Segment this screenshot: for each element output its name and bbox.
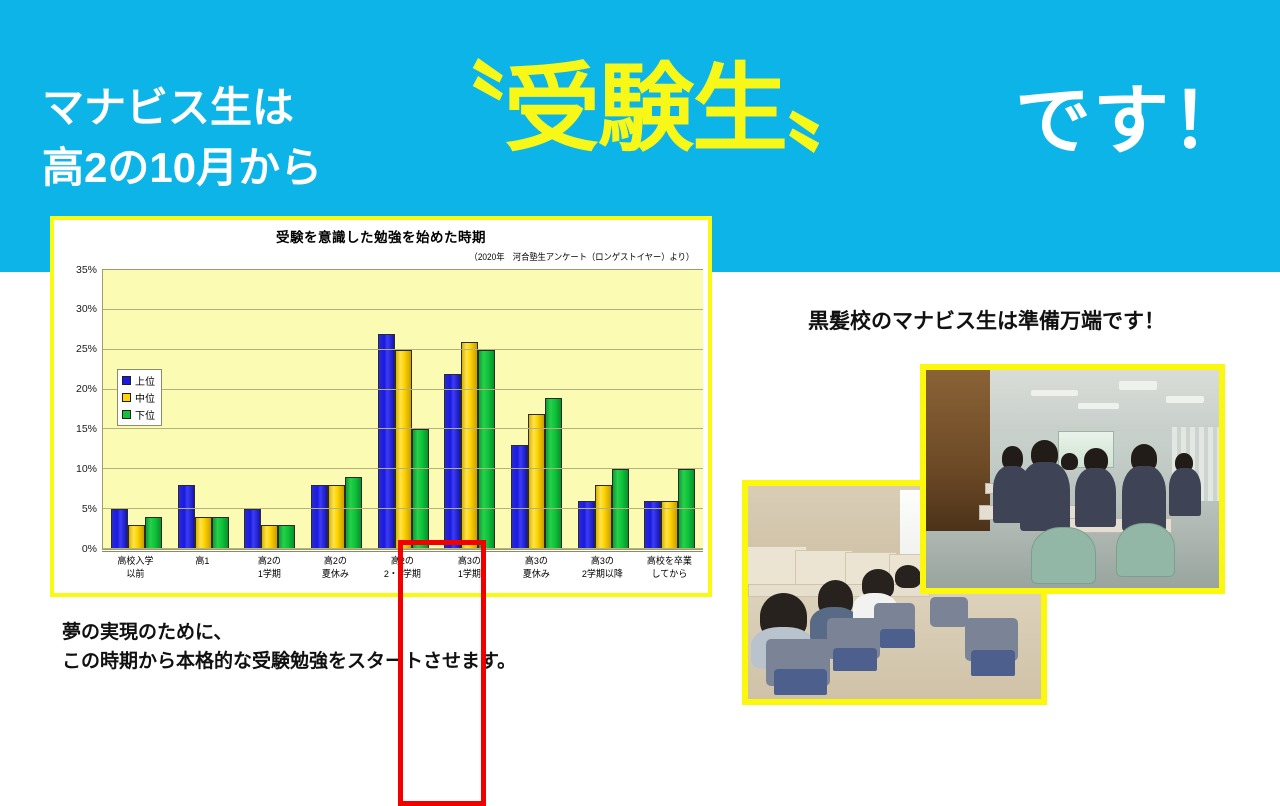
chart-bar: [311, 485, 328, 549]
lecture-room-image: [926, 370, 1219, 588]
headline-group: マナビス生は 高2の10月から: [42, 72, 322, 197]
chart-gridline: 5%: [103, 508, 703, 509]
office-chair: [971, 650, 1015, 676]
ceiling-light: [1031, 390, 1078, 397]
ceiling-light: [1119, 381, 1157, 390]
student-head: [895, 565, 921, 588]
legend-item-label: 中位: [135, 390, 155, 405]
chart-bar-group: [170, 270, 237, 549]
lecture-chair: [1031, 527, 1095, 584]
chart-bar: [128, 525, 145, 549]
chart-bar: [111, 509, 128, 549]
legend-item: 上位: [122, 373, 155, 388]
lecture-chair: [1116, 523, 1175, 578]
chart-bar: [444, 374, 461, 549]
y-axis-tick-label: 30%: [76, 303, 97, 315]
y-axis-tick-label: 25%: [76, 343, 97, 355]
chart-bar-group: [636, 270, 703, 549]
chart-gridline: 15%: [103, 428, 703, 429]
x-axis-tick-label: 高1: [170, 552, 233, 595]
x-axis-tick-label: 高3の 夏休み: [504, 552, 567, 595]
chart-bar: [412, 429, 429, 549]
chart-gridline: 30%: [103, 309, 703, 310]
x-axis-tick-label: 高2の 2・3学期: [371, 552, 434, 595]
student-body: [1122, 466, 1166, 531]
chart-legend: 上位中位下位: [117, 369, 162, 426]
chart-bar-group: [570, 270, 637, 549]
right-heading: 黒髪校のマナビス生は準備万端です！: [808, 305, 1165, 335]
chart-gridline: 10%: [103, 468, 703, 469]
y-axis-tick-label: 20%: [76, 383, 97, 395]
student-head: [1061, 453, 1079, 470]
chart-gridline: 35%: [103, 269, 703, 270]
lecture-room-photo: [920, 364, 1225, 594]
headline-emphasis-text: 〝受験生〟: [410, 62, 880, 158]
chart-bar: [395, 350, 412, 549]
chart-plot-area: 0%5%10%15%20%25%30%35%: [102, 269, 703, 550]
student-body: [1020, 462, 1070, 532]
x-axis-tick-label: 高3の 2学期以降: [571, 552, 634, 595]
office-chair: [880, 629, 915, 648]
chart-gridline: 25%: [103, 349, 703, 350]
chart-bar: [345, 477, 362, 549]
chart-gridline: 0%: [103, 548, 703, 549]
chart-gridline: 20%: [103, 389, 703, 390]
headline-white-text: マナビス生は 高2の10月から: [42, 72, 322, 197]
chart-bar: [244, 509, 261, 549]
slide: マナビス生は 高2の10月から 〝受験生〟 です！ 受験を意識した勉強を始めた時…: [0, 0, 1280, 720]
office-chair: [774, 669, 827, 695]
legend-item-label: 上位: [135, 373, 155, 388]
legend-item: 下位: [122, 407, 155, 422]
chart-bar: [212, 517, 229, 549]
chart-title: 受験を意識した勉強を始めた時期: [54, 226, 708, 246]
chart-bar: [478, 350, 495, 549]
chart-bar: [595, 485, 612, 549]
chart-bar-group: [436, 270, 503, 549]
legend-swatch-icon: [122, 393, 131, 402]
chart-caption: 夢の実現のために、 この時期から本格的な受験勉強をスタートさせます。: [62, 618, 516, 677]
chart-bar-group: [303, 270, 370, 549]
chart-subtitle: （2020年 河合塾生アンケート（ロンゲストイヤー）より）: [469, 250, 694, 263]
y-axis-tick-label: 0%: [82, 543, 97, 555]
x-axis-tick-label: 高2の 夏休み: [304, 552, 367, 595]
chart-bar: [145, 517, 162, 549]
chart-bar-group: [370, 270, 437, 549]
legend-swatch-icon: [122, 410, 131, 419]
chart-bar-group: [236, 270, 303, 549]
ceiling-light: [1078, 403, 1119, 410]
x-axis-tick-label: 高校を卒業 してから: [638, 552, 701, 595]
x-axis-tick-label: 高3の 1学期: [438, 552, 501, 595]
legend-item-label: 下位: [135, 407, 155, 422]
legend-item: 中位: [122, 390, 155, 405]
x-axis-tick-label: 高2の 1学期: [237, 552, 300, 595]
office-chair: [930, 597, 968, 627]
chart-bar: [378, 334, 395, 549]
student-body: [1169, 468, 1201, 516]
chart-bar: [545, 398, 562, 549]
chart-bar: [528, 414, 545, 550]
chart-bar: [195, 517, 212, 549]
chart-bar: [511, 445, 528, 549]
y-axis-tick-label: 5%: [82, 503, 97, 515]
chart-x-axis: 高校入学 以前高1高2の 1学期高2の 夏休み高2の 2・3学期高3の 1学期高…: [102, 551, 703, 595]
office-chair: [833, 648, 877, 671]
y-axis-tick-label: 35%: [76, 264, 97, 276]
chart-bar: [328, 485, 345, 549]
chart-bar: [261, 525, 278, 549]
y-axis-tick-label: 10%: [76, 463, 97, 475]
chart-bar-group: [503, 270, 570, 549]
chart-bar: [461, 342, 478, 549]
headline-tail-text: です！: [1015, 84, 1249, 160]
x-axis-tick-label: 高校入学 以前: [104, 552, 167, 595]
chart-bar: [178, 485, 195, 549]
chart-bars-layer: [103, 270, 703, 549]
chart-card: 受験を意識した勉強を始めた時期 （2020年 河合塾生アンケート（ロンゲストイヤ…: [50, 216, 712, 597]
y-axis-tick-label: 15%: [76, 423, 97, 435]
ceiling-light: [1166, 396, 1204, 403]
chart-bar: [278, 525, 295, 549]
student-body: [1075, 468, 1116, 527]
legend-swatch-icon: [122, 376, 131, 385]
